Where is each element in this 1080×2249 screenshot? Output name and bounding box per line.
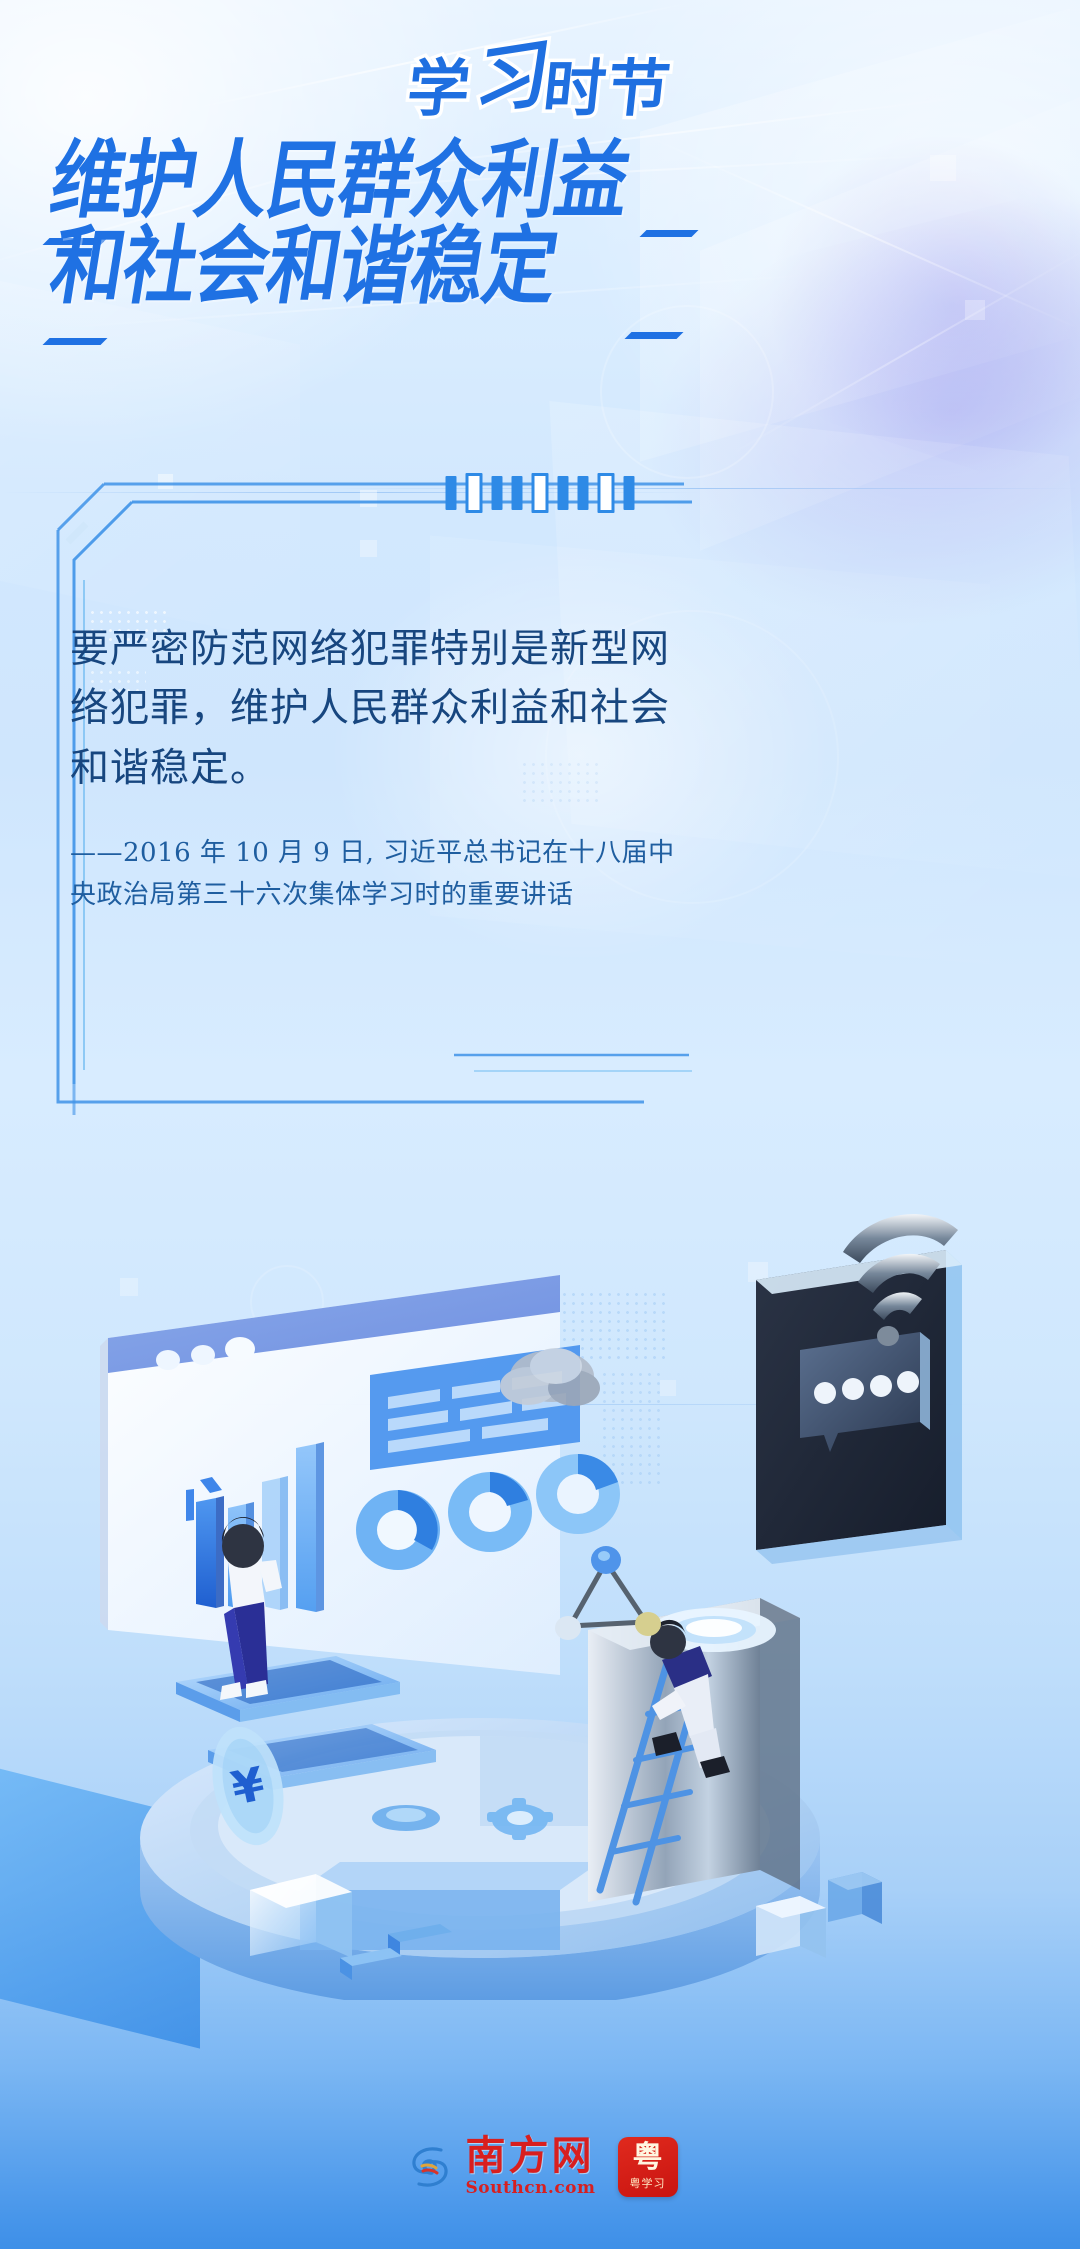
ghost-square-8 (965, 300, 985, 320)
page-title: 维护人民群众利益 和社会和谐稳定 (58, 142, 678, 296)
quote-attribution: ——2016 年 10 月 9 日, 习近平总书记在十八届中央政治局第三十六次集… (70, 832, 685, 916)
donut-chart (448, 1472, 532, 1552)
tech-pane-2 (700, 89, 1080, 551)
southcn-name-cn: 南方网 (466, 2136, 595, 2176)
southcn-name-en: Southcn.com (466, 2180, 596, 2197)
bar-divider (446, 473, 635, 513)
quote-text: 要严密防范网络犯罪特别是新型网络犯罪，维护人民群众利益和社会和谐稳定。 (70, 620, 685, 798)
footer-logos: 南方网 Southcn.com 粤 粤学习 (0, 2136, 1080, 2197)
glass-pad-upper (176, 1656, 400, 1722)
dark-panel (756, 1214, 962, 1564)
southcn-text: 南方网 Southcn.com (466, 2136, 596, 2197)
brand-logo-text: 学习时节 (404, 48, 676, 122)
yuexuexi-mark: 粤 (633, 2143, 663, 2173)
illustration: ¥ (0, 1190, 1080, 2000)
divider-bar (578, 476, 589, 510)
divider-bar (492, 476, 503, 510)
divider-bar (466, 473, 483, 513)
molecule-structure (555, 1546, 661, 1640)
yuexuexi-logo[interactable]: 粤 粤学习 (618, 2137, 678, 2197)
brand-logo[interactable]: 学习时节 (0, 48, 1080, 122)
headline-line-1: 维护人民群众利益 (46, 142, 678, 221)
browser-window (100, 1275, 620, 1675)
illustration-svg: ¥ (0, 1190, 1080, 2000)
ghost-square-7 (930, 155, 956, 181)
purple-gradient-wash-2 (718, 72, 1080, 497)
light-ray-6 (640, 132, 1079, 329)
poster-root: 学习时节 维护人民群众利益 和社会和谐稳定 (0, 0, 1080, 2249)
southcn-logo[interactable]: 南方网 Southcn.com (403, 2136, 596, 2197)
quote-block: 要严密防范网络犯罪特别是新型网络犯罪，维护人民群众利益和社会和谐稳定。 ——20… (70, 620, 685, 916)
donut-chart (356, 1490, 440, 1570)
brand-logo-char-xue: 学 (404, 52, 476, 125)
headline-accent-slash-4 (625, 332, 684, 339)
divider-bar (624, 476, 635, 510)
southcn-mark-icon (403, 2140, 457, 2194)
brand-logo-char-xi-calligraphic: 习 (465, 37, 550, 121)
headline-line-2: 和社会和谐稳定 (46, 228, 678, 307)
divider-bar (598, 473, 615, 513)
yuexuexi-label: 粤学习 (630, 2175, 666, 2191)
divider-bar (532, 473, 549, 513)
divider-bar (446, 476, 457, 510)
divider-bar (512, 476, 523, 510)
divider-bar (558, 476, 569, 510)
donut-chart (536, 1454, 620, 1534)
ghost-circle-1 (600, 305, 774, 479)
headline-accent-slash-2 (43, 338, 108, 345)
light-ray-7 (728, 245, 1080, 457)
teal-disc-inner (386, 1808, 426, 1822)
brand-logo-rest: 时节 (540, 52, 676, 125)
